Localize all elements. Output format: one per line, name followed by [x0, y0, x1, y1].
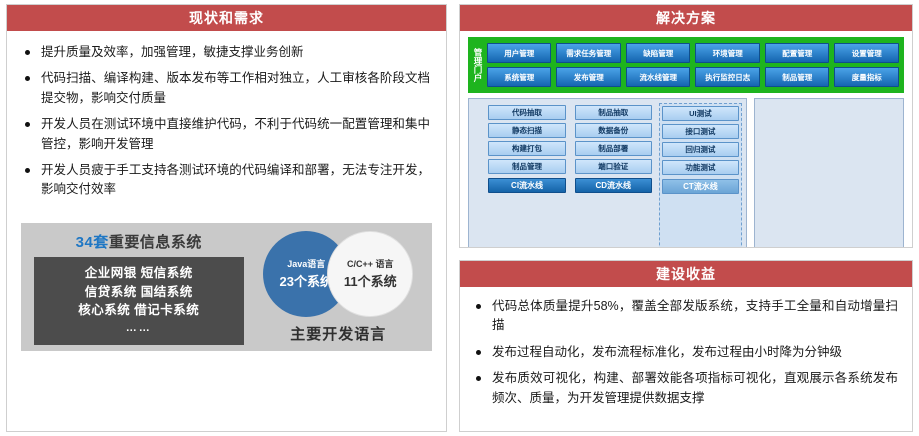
- portal-button[interactable]: 流水线管理: [626, 67, 691, 87]
- slide-root: 现状和需求 提升质量及效率，加强管理，敏捷支撑业务创新 代码扫描、编译构建、版本…: [0, 0, 919, 436]
- portal-button[interactable]: 度量指标: [834, 67, 899, 87]
- language-venn-block: Java语言 23个系统 C/C++ 语言 11个系统 主要开发语言: [250, 229, 426, 345]
- systems-name-box: 企业网银 短信系统 信贷系统 国结系统 核心系统 借记卡系统 ……: [34, 257, 244, 345]
- pipeline-footer-cd: CD流水线: [575, 178, 652, 193]
- solution-title: 解决方案: [460, 5, 912, 31]
- pipeline-step[interactable]: 数据备份: [575, 123, 652, 138]
- benefit-body: 代码总体质量提升58%，覆盖全部发版系统，支持手工全量和自动增量扫描 发布过程自…: [460, 287, 912, 431]
- systems-count-label: 重要信息系统: [109, 234, 202, 251]
- portal-button[interactable]: 系统管理: [487, 67, 552, 87]
- venn-java-count: 23个系统: [280, 271, 333, 290]
- management-portal-grid: 用户管理 需求任务管理 缺陷管理 环境管理 配置管理 设置管理 系统管理 发布管…: [487, 43, 899, 87]
- benefit-bullet-list: 代码总体质量提升58%，覆盖全部发版系统，支持手工全量和自动增量扫描 发布过程自…: [460, 287, 912, 419]
- benefit-panel: 建设收益 代码总体质量提升58%，覆盖全部发版系统，支持手工全量和自动增量扫描 …: [459, 260, 913, 432]
- pipeline-step[interactable]: 代码抽取: [488, 105, 565, 120]
- pipeline-step[interactable]: 接口测试: [662, 124, 739, 139]
- left-column: 现状和需求 提升质量及效率，加强管理，敏捷支撑业务创新 代码扫描、编译构建、版本…: [6, 4, 447, 432]
- pipeline-step[interactable]: 回归测试: [662, 142, 739, 157]
- management-portal-label: 管理门户: [473, 41, 482, 89]
- list-item: 代码总体质量提升58%，覆盖全部发版系统，支持手工全量和自动增量扫描: [474, 297, 898, 336]
- pipeline-step[interactable]: 静态扫描: [488, 123, 565, 138]
- portal-button[interactable]: 环境管理: [695, 43, 760, 63]
- pipeline-footer-ct: CT流水线: [662, 179, 739, 194]
- systems-stats-strip: 34套重要信息系统 企业网银 短信系统 信贷系统 国结系统 核心系统 借记卡系统…: [21, 223, 432, 351]
- venn-java-label: Java语言: [287, 257, 325, 270]
- pipeline-step[interactable]: 功能测试: [662, 160, 739, 175]
- systems-count-number: 34套: [76, 234, 109, 251]
- portal-button[interactable]: 缺陷管理: [626, 43, 691, 63]
- current-status-title: 现状和需求: [7, 5, 446, 31]
- middle-row: 流水线管理 代码抽取 静态扫描 构建打包 制品管理 CI流水线: [468, 98, 904, 247]
- pipeline-columns: 代码抽取 静态扫描 构建打包 制品管理 CI流水线 制品抽取 数据备份 制品部: [486, 103, 742, 247]
- portal-button[interactable]: 用户管理: [487, 43, 552, 63]
- list-item: 发布过程自动化，发布流程标准化，发布过程由小时降为分钟级: [474, 343, 898, 362]
- management-portal-band: 管理门户 用户管理 需求任务管理 缺陷管理 环境管理 配置管理 设置管理 系统管…: [468, 37, 904, 93]
- solution-body: 管理门户 用户管理 需求任务管理 缺陷管理 环境管理 配置管理 设置管理 系统管…: [460, 31, 912, 247]
- list-item: 开发人员在测试环境中直接维护代码，不利于代码统一配置管理和集中管控，影响开发管理: [23, 115, 430, 154]
- pipeline-management-block: 流水线管理 代码抽取 静态扫描 构建打包 制品管理 CI流水线: [468, 98, 747, 247]
- pipeline-step[interactable]: 制品部署: [575, 141, 652, 156]
- venn-diagram: Java语言 23个系统 C/C++ 语言 11个系统: [263, 231, 413, 317]
- architecture-diagram: 管理门户 用户管理 需求任务管理 缺陷管理 环境管理 配置管理 设置管理 系统管…: [460, 31, 912, 247]
- list-item: 提升质量及效率，加强管理，敏捷支撑业务创新: [23, 43, 430, 62]
- systems-count-block: 34套重要信息系统 企业网银 短信系统 信贷系统 国结系统 核心系统 借记卡系统…: [27, 229, 250, 345]
- system-row: 核心系统 借记卡系统: [78, 301, 199, 319]
- venn-caption: 主要开发语言: [290, 323, 386, 344]
- list-item: 开发人员疲于手工支持各测试环境的代码编译和部署，无法专注开发，影响交付效率: [23, 161, 430, 200]
- pipeline-step[interactable]: UI测试: [662, 106, 739, 121]
- list-item: 发布质效可视化，构建、部署效能各项指标可视化，直观展示各系统发布频次、质量，为开…: [474, 369, 898, 408]
- pipeline-step[interactable]: 构建打包: [488, 141, 565, 156]
- system-row: 企业网银 短信系统: [85, 264, 193, 282]
- portal-button[interactable]: 发布管理: [556, 67, 621, 87]
- pipeline-column-ct: UI测试 接口测试 回归测试 功能测试 CT流水线: [659, 103, 742, 247]
- current-status-body: 提升质量及效率，加强管理，敏捷支撑业务创新 代码扫描、编译构建、版本发布等工作相…: [7, 31, 446, 431]
- portal-button[interactable]: 需求任务管理: [556, 43, 621, 63]
- venn-cpp-count: 11个系统: [344, 271, 397, 290]
- pipeline-step[interactable]: 制品抽取: [575, 105, 652, 120]
- pipeline-footer-ci: CI流水线: [488, 178, 565, 193]
- portal-button[interactable]: 执行监控日志: [695, 67, 760, 87]
- system-ellipsis: ……: [126, 321, 152, 337]
- pipeline-step[interactable]: 制品管理: [488, 159, 565, 174]
- pipeline-step[interactable]: 端口验证: [575, 159, 652, 174]
- solution-panel: 解决方案 管理门户 用户管理 需求任务管理 缺陷管理 环境管理 配置管理 设置管…: [459, 4, 913, 248]
- portal-button[interactable]: 设置管理: [834, 43, 899, 63]
- current-status-panel: 现状和需求 提升质量及效率，加强管理，敏捷支撑业务创新 代码扫描、编译构建、版本…: [6, 4, 447, 432]
- list-item: 代码扫描、编译构建、版本发布等工作相对独立，人工审核各阶段文档提交物，影响交付质…: [23, 69, 430, 108]
- pipeline-column-ci: 代码抽取 静态扫描 构建打包 制品管理 CI流水线: [486, 103, 567, 247]
- systems-count-title: 34套重要信息系统: [76, 231, 202, 252]
- venn-cpp-label: C/C++ 语言: [347, 257, 394, 270]
- right-column: 解决方案 管理门户 用户管理 需求任务管理 缺陷管理 环境管理 配置管理 设置管…: [459, 4, 913, 432]
- portal-button[interactable]: 配置管理: [765, 43, 830, 63]
- release-management-block: 发布管理 蓝图管理 策略管理 脚本管理 源码管理 构建管理 代扫管理: [754, 98, 904, 247]
- pipeline-column-cd: 制品抽取 数据备份 制品部署 端口验证 CD流水线: [573, 103, 654, 247]
- pipeline-management-label: 流水线管理: [473, 103, 482, 247]
- portal-button[interactable]: 制品管理: [765, 67, 830, 87]
- current-status-bullet-list: 提升质量及效率，加强管理，敏捷支撑业务创新 代码扫描、编译构建、版本发布等工作相…: [7, 31, 446, 213]
- benefit-title: 建设收益: [460, 261, 912, 287]
- venn-circle-cpp: C/C++ 语言 11个系统: [327, 231, 413, 317]
- system-row: 信贷系统 国结系统: [85, 283, 193, 301]
